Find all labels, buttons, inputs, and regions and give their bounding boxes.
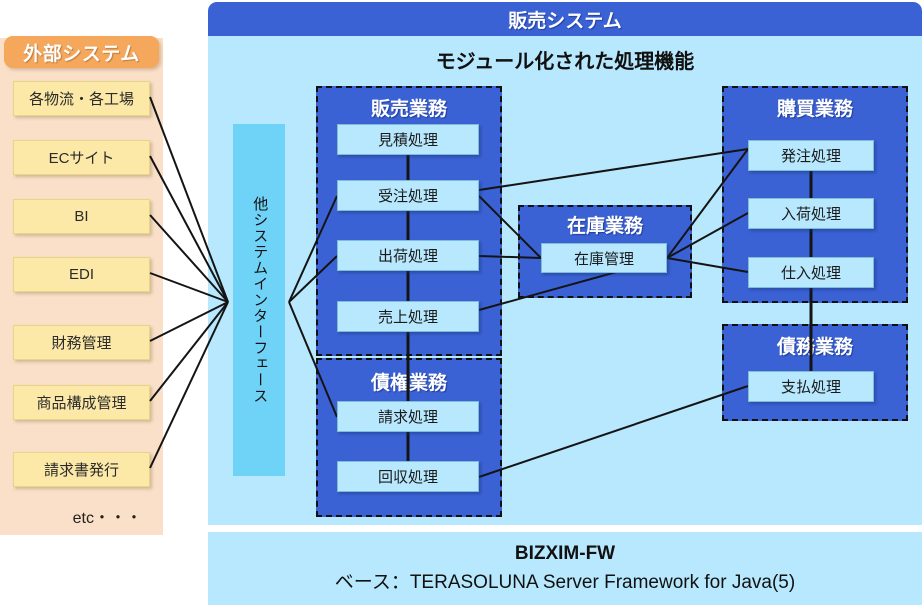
framework-footer: BIZXIM-FW ベース：TERASOLUNA Server Framewor…	[208, 532, 922, 605]
process-sales-recording[interactable]: 売上処理	[337, 301, 479, 332]
process-shipping[interactable]: 出荷処理	[337, 240, 479, 271]
external-item-ec-site[interactable]: ECサイト	[13, 140, 150, 175]
process-quotation[interactable]: 見積処理	[337, 124, 479, 155]
module-payables-title: 債務業務	[724, 332, 906, 359]
other-system-interface-label: 他システムインターフェース	[251, 196, 268, 404]
module-purchasing-title: 購買業務	[724, 94, 906, 121]
process-inventory-management[interactable]: 在庫管理	[541, 243, 667, 273]
external-item-logistics[interactable]: 各物流・各工場	[13, 81, 150, 116]
module-receivables-title: 債権業務	[318, 368, 500, 395]
sales-system-subtitle: モジュール化された処理機能	[208, 44, 922, 74]
external-item-edi[interactable]: EDI	[13, 257, 150, 292]
external-item-finance[interactable]: 財務管理	[13, 325, 150, 360]
diagram-canvas: 外部システム 各物流・各工場 ECサイト BI EDI 財務管理 商品構成管理 …	[0, 0, 922, 607]
process-collection[interactable]: 回収処理	[337, 461, 479, 492]
external-item-product-config[interactable]: 商品構成管理	[13, 385, 150, 420]
process-purchase-recording[interactable]: 仕入処理	[748, 257, 874, 288]
module-receivables: 債権業務	[316, 358, 502, 517]
framework-base: ベース：TERASOLUNA Server Framework for Java…	[335, 567, 795, 594]
sales-system-title: 販売システム	[208, 2, 922, 36]
process-billing[interactable]: 請求処理	[337, 401, 479, 432]
module-sales-title: 販売業務	[318, 94, 500, 121]
process-payment[interactable]: 支払処理	[748, 371, 874, 402]
other-system-interface[interactable]: 他システムインターフェース	[233, 124, 285, 476]
external-item-invoice-issue[interactable]: 請求書発行	[13, 452, 150, 487]
external-system-title: 外部システム	[4, 36, 159, 68]
process-goods-receipt[interactable]: 入荷処理	[748, 198, 874, 229]
module-inventory-title: 在庫業務	[520, 211, 690, 238]
framework-name: BIZXIM-FW	[515, 543, 615, 565]
external-etc-label: etc・・・	[13, 505, 148, 527]
process-purchase-order[interactable]: 発注処理	[748, 140, 874, 171]
process-order-receipt[interactable]: 受注処理	[337, 180, 479, 211]
external-item-bi[interactable]: BI	[13, 199, 150, 234]
